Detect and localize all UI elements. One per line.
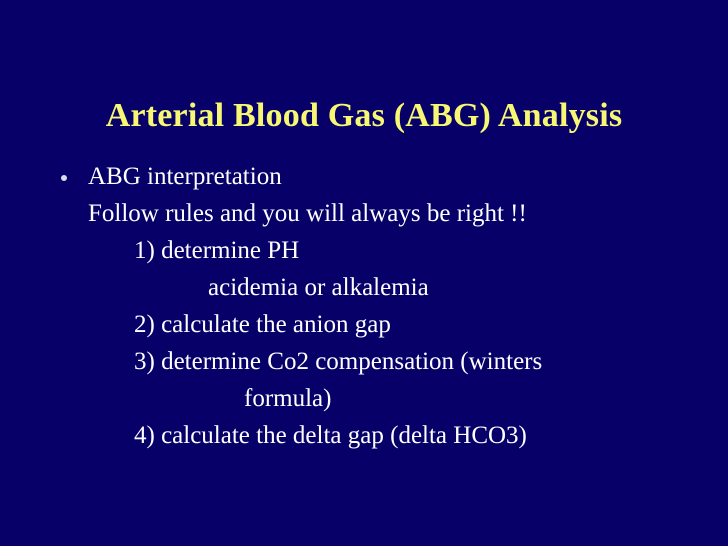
bullet-point-icon	[61, 175, 67, 181]
list-item-label: 3) determine Co2 compensation (winters	[134, 348, 542, 375]
list-item: 3) determine Co2 compensation (winters	[0, 343, 728, 380]
list-item-label: 2) calculate the anion gap	[134, 311, 391, 338]
list-item-label: formula)	[244, 385, 331, 412]
list-item: ABG interpretation	[0, 158, 728, 195]
list-item-label: acidemia or alkalemia	[208, 274, 429, 301]
slide-body: ABG interpretation Follow rules and you …	[0, 158, 728, 454]
list-item-label: Follow rules and you will always be righ…	[88, 200, 527, 227]
page-title: Arterial Blood Gas (ABG) Analysis	[0, 95, 728, 137]
list-item-label: 1) determine PH	[134, 237, 299, 264]
list-item-label: 4) calculate the delta gap (delta HCO3)	[134, 422, 527, 449]
list-item: acidemia or alkalemia	[0, 269, 728, 306]
presentation-slide: Arterial Blood Gas (ABG) Analysis ABG in…	[0, 0, 728, 546]
list-item: 2) calculate the anion gap	[0, 306, 728, 343]
list-item: 1) determine PH	[0, 232, 728, 269]
list-item: Follow rules and you will always be righ…	[0, 195, 728, 232]
list-item-continuation: formula)	[0, 380, 728, 417]
list-item-label: ABG interpretation	[88, 163, 282, 190]
list-item: 4) calculate the delta gap (delta HCO3)	[0, 417, 728, 454]
